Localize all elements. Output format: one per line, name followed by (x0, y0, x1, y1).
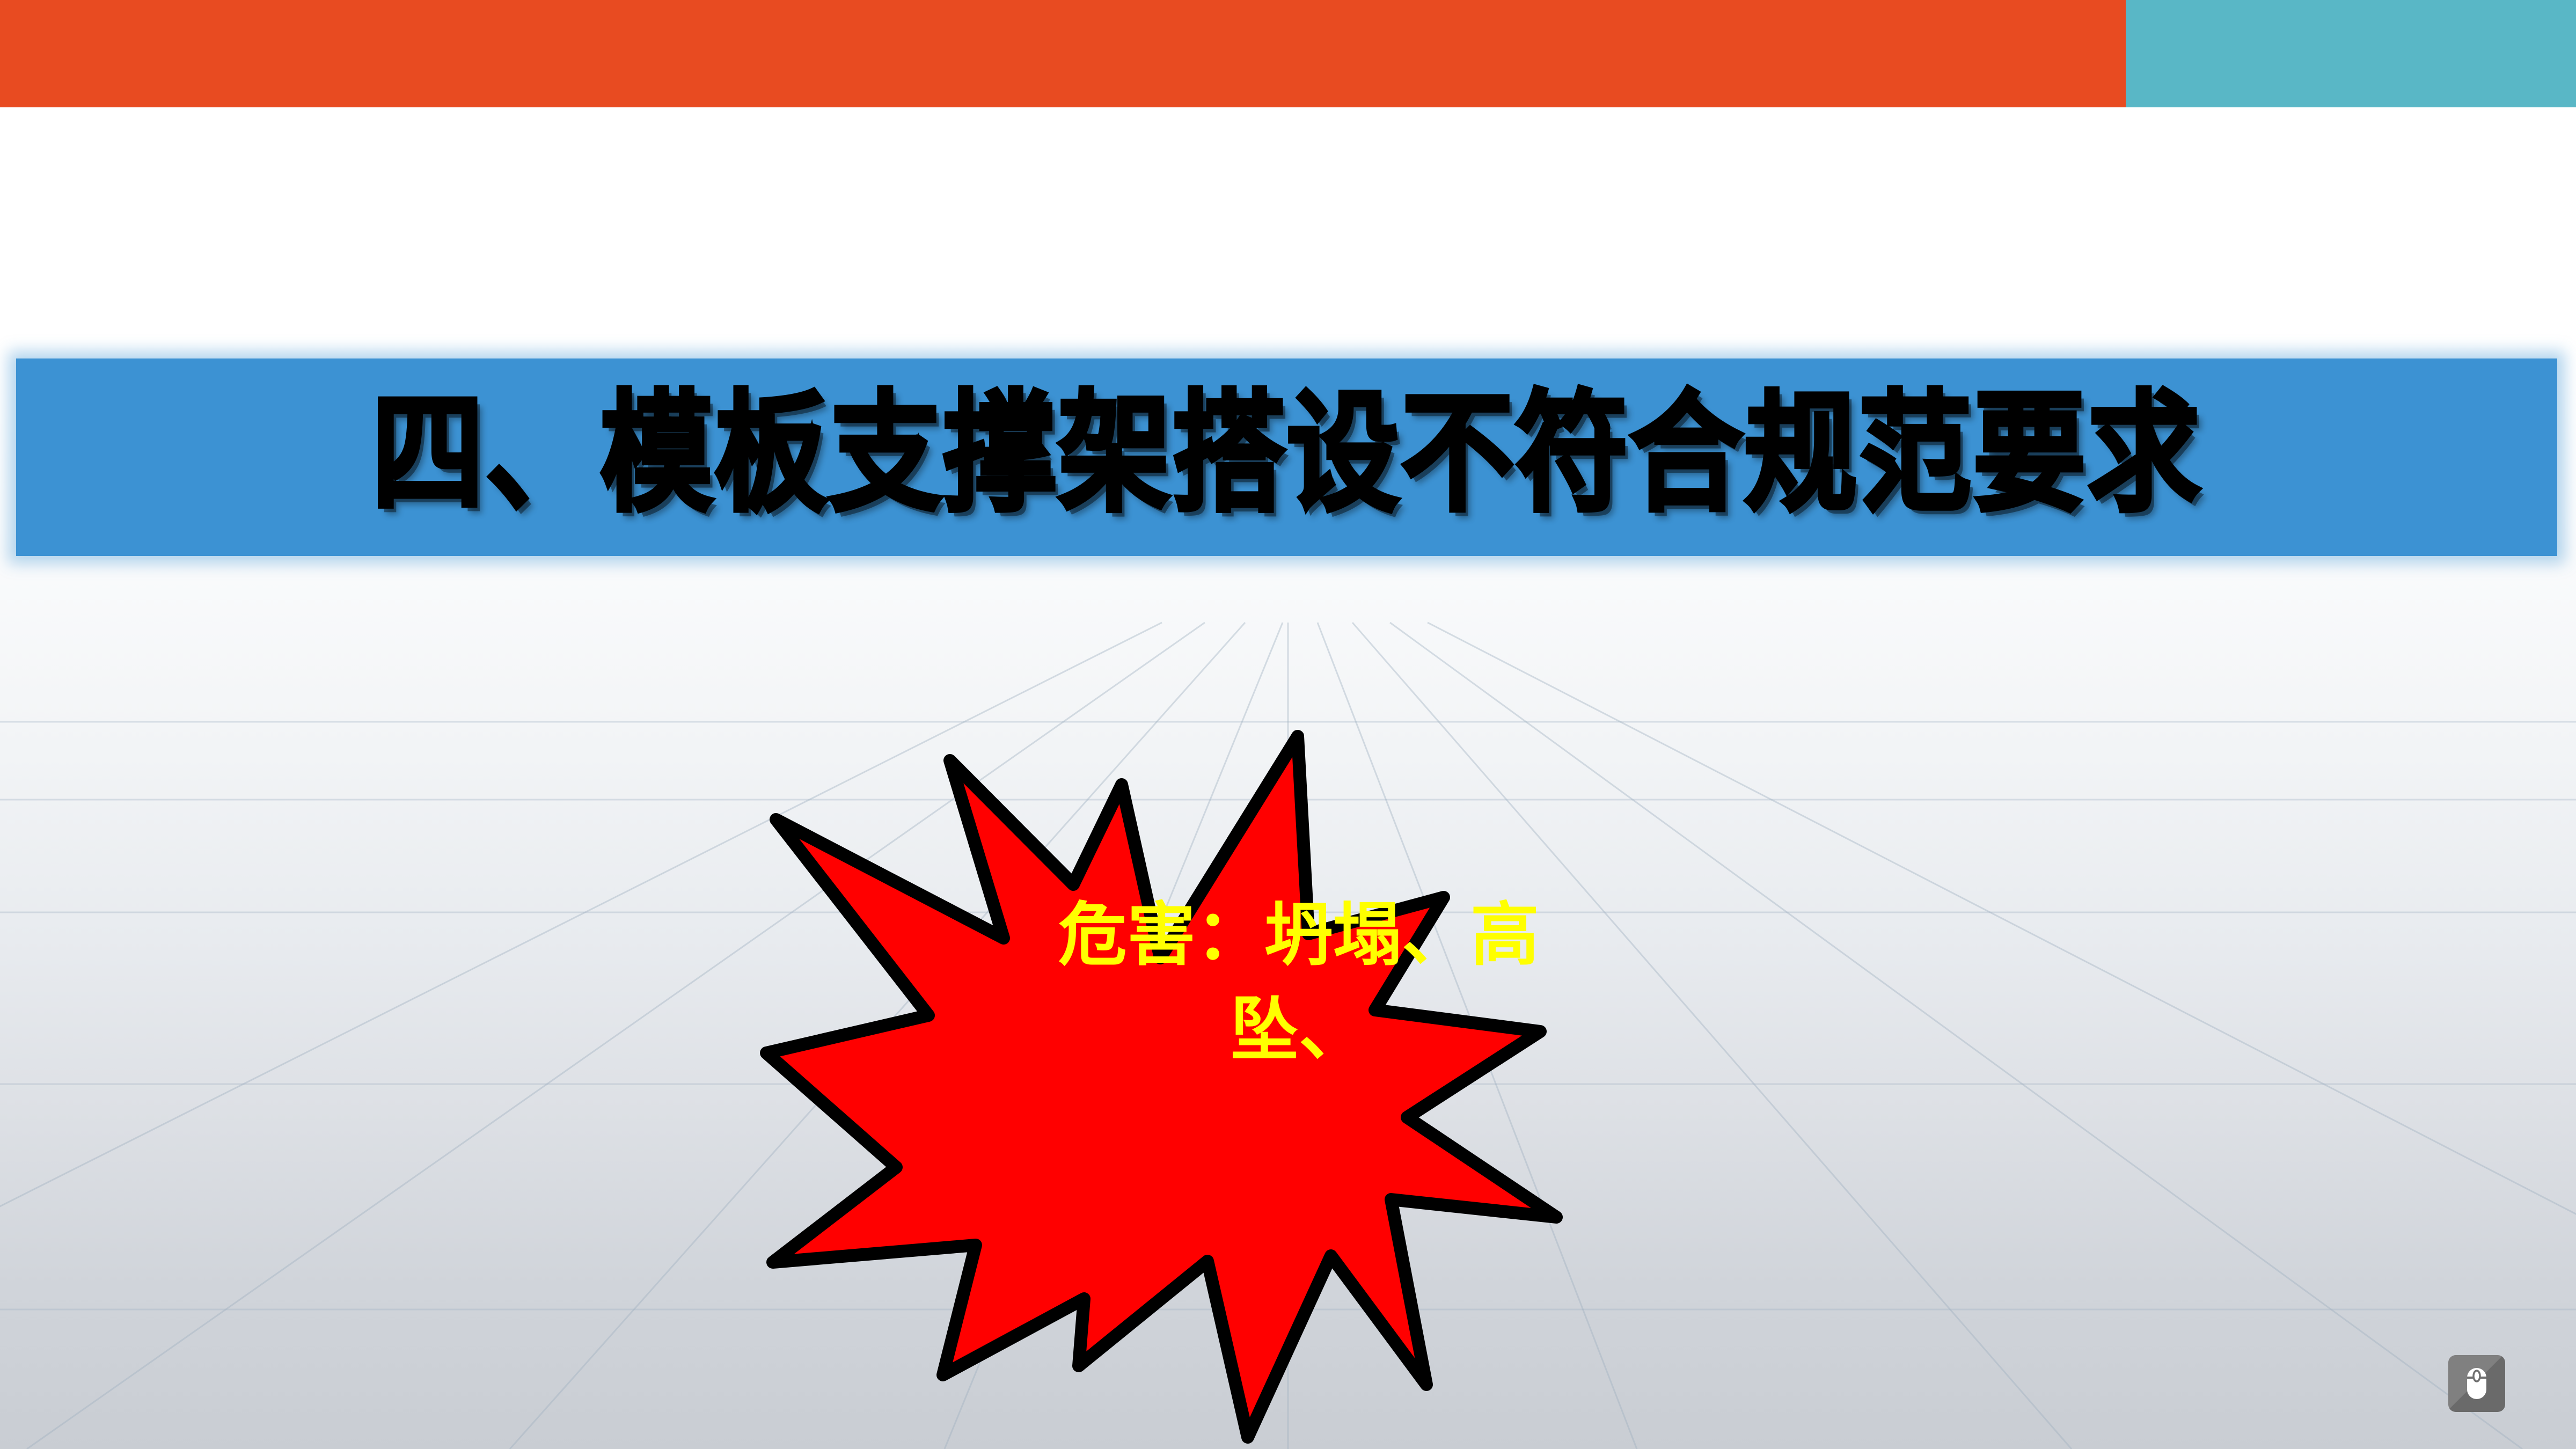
starburst-shape (766, 736, 1556, 1437)
top-color-bar (0, 0, 2576, 107)
mouse-icon (2463, 1366, 2490, 1401)
title-banner: 四、模板支撑架搭设不符合规范要求 (16, 358, 2557, 556)
starburst-callout: 危害：坍塌、高 坠、 (751, 714, 1857, 1315)
slide-canvas: 四、模板支撑架搭设不符合规范要求 危害：坍塌、高 坠、 (0, 0, 2576, 1449)
topbar-teal-band (2126, 0, 2576, 107)
topbar-orange-band (0, 0, 2126, 107)
page-title: 四、模板支撑架搭设不符合规范要求 (371, 389, 2202, 525)
mouse-control-button[interactable] (2448, 1355, 2505, 1412)
